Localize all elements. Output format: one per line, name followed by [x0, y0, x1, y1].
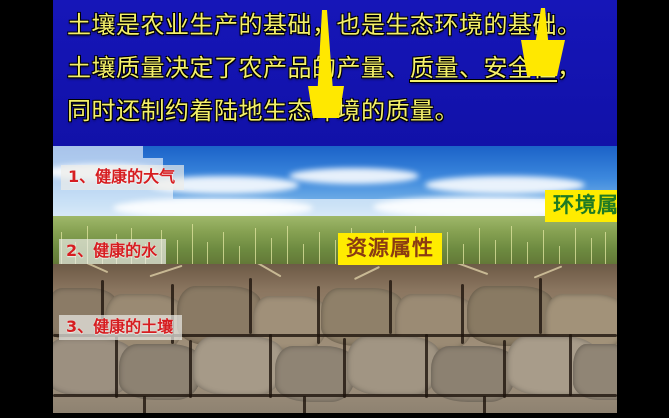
slide-content-area: 土壤是农业生产的基础，也是生态环境的基础。 土壤质量决定了农产品的产量、质量、安… — [53, 0, 617, 413]
callout-resource-attribute: 资源属性 — [338, 233, 442, 265]
letterbox-left — [0, 0, 53, 418]
letterbox-bottom — [0, 413, 669, 418]
letterbox-right — [617, 0, 669, 418]
callout-environment-attribute: 环境属性 — [545, 190, 617, 222]
arrow-environment-attribute — [53, 0, 617, 413]
slide-canvas: 土壤是农业生产的基础，也是生态环境的基础。 土壤质量决定了农产品的产量、质量、安… — [0, 0, 669, 418]
